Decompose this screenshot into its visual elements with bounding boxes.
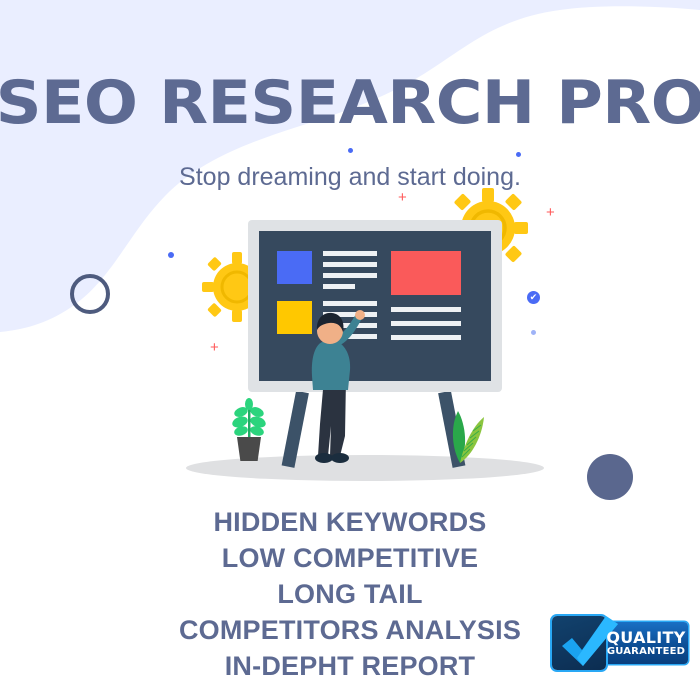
badge-line-guaranteed: GUARANTEED [607,646,685,658]
plant-pot [237,437,261,461]
seo-research-pro-poster: SEO RESEARCH PRO Stop dreaming and start… [0,0,700,700]
board-text-line [391,321,461,326]
fern-plant-icon [446,405,490,465]
potted-plant-icon [228,398,272,442]
board-blue-square [277,251,312,284]
board-text-line [323,273,377,278]
badge-line-quality: QUALITY [606,629,685,646]
feature-item: LONG TAIL [0,576,700,612]
feature-item: HIDDEN KEYWORDS [0,504,700,540]
board-text-line [391,335,461,340]
feature-item: LOW COMPETITIVE [0,540,700,576]
quality-guaranteed-badge: QUALITY GUARANTEED [548,612,688,674]
board-text-line [323,251,377,256]
person-presenter [300,306,390,466]
board-text-line [323,262,377,267]
board-text-line [323,284,355,289]
badge-text: QUALITY GUARANTEED [604,622,688,664]
board-text-line [391,307,461,312]
board-red-rectangle [391,251,461,295]
